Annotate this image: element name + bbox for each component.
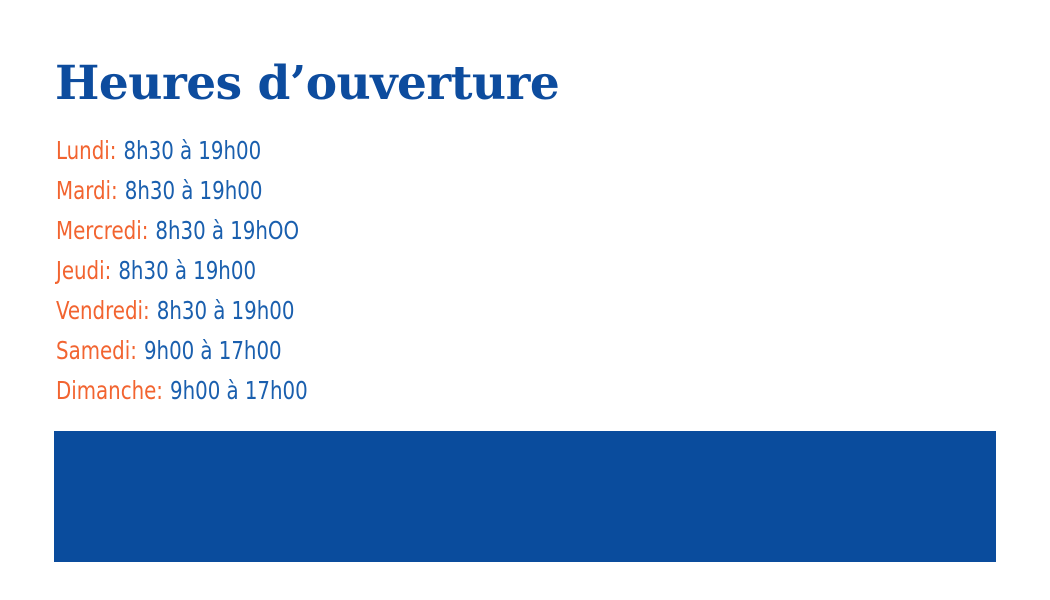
hours-value: 8h30à19h00 <box>124 136 262 165</box>
time-separator: à <box>180 136 192 165</box>
hours-value: 8h30à19h00 <box>118 256 256 285</box>
list-item: Samedi:9h00à17h00 <box>56 331 672 371</box>
close-time: 19h00 <box>232 296 295 325</box>
list-item: Dimanche:9h00à17h00 <box>56 371 672 411</box>
time-separator: à <box>213 296 225 325</box>
open-time: 8h30 <box>118 256 168 285</box>
slide-canvas: Heures d’ouverture Lundi:8h30à19h00 Mard… <box>0 0 1050 600</box>
day-label: Vendredi: <box>56 296 150 325</box>
hours-value: 8h30à19hOO <box>155 216 299 245</box>
hours-value: 9h00à17h00 <box>170 376 308 405</box>
close-time: 19h00 <box>200 176 263 205</box>
day-label: Mardi: <box>56 176 118 205</box>
open-time: 8h30 <box>155 216 205 245</box>
close-time: 17h00 <box>219 336 282 365</box>
open-time: 8h30 <box>124 136 174 165</box>
open-time: 9h00 <box>170 376 220 405</box>
list-item: Jeudi:8h30à19h00 <box>56 251 672 291</box>
open-time: 8h30 <box>157 296 207 325</box>
day-label: Mercredi: <box>56 216 148 245</box>
day-label: Samedi: <box>56 336 137 365</box>
close-time: 19hOO <box>230 216 299 245</box>
close-time: 19h00 <box>198 136 261 165</box>
time-separator: à <box>200 336 212 365</box>
day-label: Lundi: <box>56 136 116 165</box>
time-separator: à <box>212 216 224 245</box>
hours-value: 8h30à19h00 <box>125 176 263 205</box>
opening-hours-list: Lundi:8h30à19h00 Mardi:8h30à19h00 Mercre… <box>56 131 756 411</box>
time-separator: à <box>181 176 193 205</box>
page-title: Heures d’ouverture <box>55 56 559 112</box>
day-label: Dimanche: <box>56 376 163 405</box>
open-time: 8h30 <box>125 176 175 205</box>
hours-value: 8h30à19h00 <box>157 296 295 325</box>
time-separator: à <box>175 256 187 285</box>
list-item: Mardi:8h30à19h00 <box>56 171 672 211</box>
close-time: 19h00 <box>193 256 256 285</box>
list-item: Lundi:8h30à19h00 <box>56 131 672 171</box>
day-label: Jeudi: <box>56 256 111 285</box>
hours-value: 9h00à17h00 <box>144 336 282 365</box>
list-item: Mercredi:8h30à19hOO <box>56 211 672 251</box>
open-time: 9h00 <box>144 336 194 365</box>
list-item: Vendredi:8h30à19h00 <box>56 291 672 331</box>
time-separator: à <box>227 376 239 405</box>
blue-banner-block <box>54 431 996 562</box>
close-time: 17h00 <box>245 376 308 405</box>
